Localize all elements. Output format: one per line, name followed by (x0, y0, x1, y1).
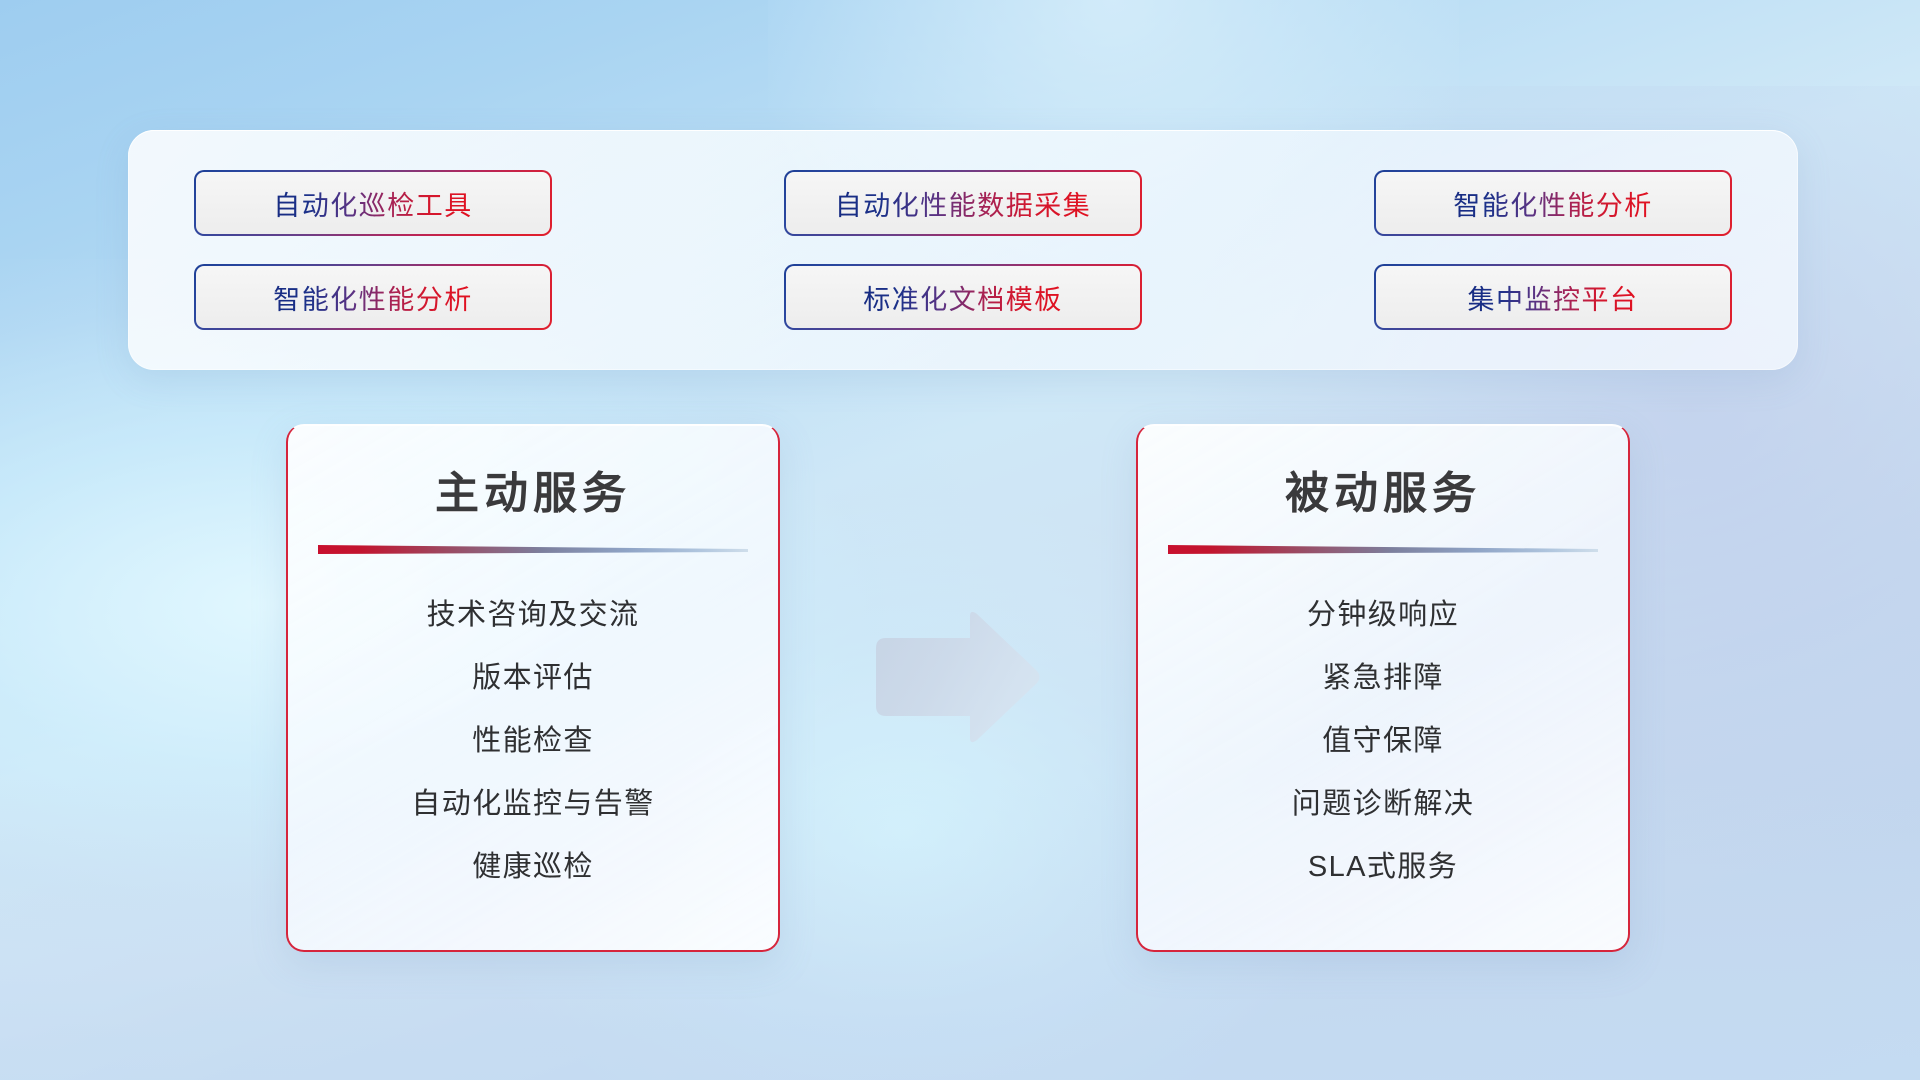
chip-surface: 集中监控平台 (1376, 266, 1730, 328)
service-list: 分钟级响应 紧急排障 值守保障 问题诊断解决 SLA式服务 (1138, 591, 1628, 885)
chip-surface: 智能化性能分析 (196, 266, 550, 328)
capability-chip-centralized-monitoring-platform[interactable]: 集中监控平台 (1374, 264, 1732, 330)
list-item: 问题诊断解决 (1292, 780, 1474, 822)
list-item: 值守保障 (1322, 717, 1444, 759)
chip-surface: 自动化性能数据采集 (786, 172, 1140, 234)
capability-panel: 自动化巡检工具 自动化性能数据采集 智能化性能分析 智能化性能分析 标准化文档模… (128, 130, 1798, 370)
list-item: 自动化监控与告警 (411, 780, 654, 822)
service-list: 技术咨询及交流 版本评估 性能检查 自动化监控与告警 健康巡检 (288, 591, 778, 885)
capability-chip-automated-inspection-tool[interactable]: 自动化巡检工具 (194, 170, 552, 236)
capability-chip-standardized-document-template[interactable]: 标准化文档模板 (784, 264, 1142, 330)
chip-label: 标准化文档模板 (863, 278, 1063, 317)
chip-surface: 标准化文档模板 (786, 266, 1140, 328)
chip-label: 智能化性能分析 (273, 278, 473, 317)
service-card-reactive[interactable]: 被动服务 分钟级响应 紧急排障 值守保障 问题诊断解决 SLA式服务 (1136, 424, 1630, 952)
card-title: 被动服务 (1138, 457, 1628, 521)
chip-label: 集中监控平台 (1468, 278, 1639, 317)
capability-chip-intelligent-performance-analysis-2[interactable]: 智能化性能分析 (194, 264, 552, 330)
capability-chip-automated-performance-data-collection[interactable]: 自动化性能数据采集 (784, 170, 1142, 236)
card-title: 主动服务 (288, 457, 778, 521)
capability-row-2: 智能化性能分析 标准化文档模板 集中监控平台 (194, 264, 1732, 330)
capability-row-1: 自动化巡检工具 自动化性能数据采集 智能化性能分析 (194, 170, 1732, 236)
list-item: 版本评估 (472, 654, 594, 696)
list-item: 技术咨询及交流 (427, 591, 640, 633)
list-item: 分钟级响应 (1307, 591, 1459, 633)
card-divider (318, 543, 748, 557)
card-divider (1168, 543, 1598, 557)
service-card-proactive[interactable]: 主动服务 技术咨询及交流 版本评估 性能检查 自动化监控与告警 健康巡检 (286, 424, 780, 952)
chip-label: 智能化性能分析 (1453, 184, 1653, 223)
list-item: 紧急排障 (1322, 654, 1444, 696)
chip-surface: 自动化巡检工具 (196, 172, 550, 234)
capability-chip-intelligent-performance-analysis[interactable]: 智能化性能分析 (1374, 170, 1732, 236)
list-item: 健康巡检 (472, 843, 594, 885)
chip-label: 自动化巡检工具 (273, 184, 473, 223)
list-item: SLA式服务 (1308, 843, 1458, 885)
chip-label: 自动化性能数据采集 (835, 184, 1092, 223)
list-item: 性能检查 (472, 717, 594, 759)
chip-surface: 智能化性能分析 (1376, 172, 1730, 234)
arrow-right-icon (870, 612, 1042, 744)
